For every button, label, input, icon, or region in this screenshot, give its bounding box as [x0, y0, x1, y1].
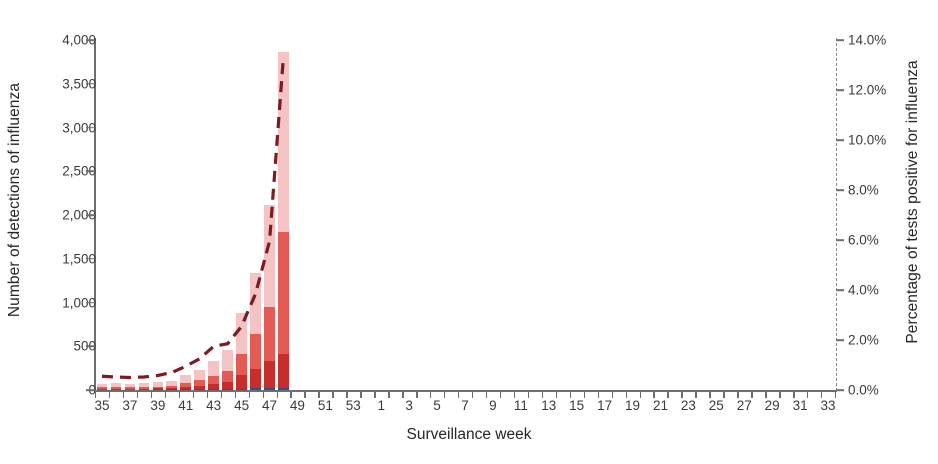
- x-axis-tick-mark: [165, 390, 166, 398]
- x-axis-tick-mark: [304, 390, 305, 398]
- y-axis-right-tick-mark: [836, 239, 844, 241]
- x-axis-tick-mark: [653, 390, 654, 398]
- x-axis-tick-mark: [151, 390, 152, 398]
- x-axis-tick-label: 27: [737, 398, 752, 413]
- influenza-surveillance-chart: Number of detections of influenza Percen…: [0, 0, 938, 464]
- y-axis-left-tick-mark: [86, 389, 95, 391]
- x-axis-tick-mark: [779, 390, 780, 398]
- x-axis-tick-mark: [277, 390, 278, 398]
- y-axis-right-tick-label: 6.0%: [848, 233, 879, 248]
- percentage-positive-path: [102, 56, 284, 377]
- y-axis-right-tick-mark: [836, 289, 844, 291]
- y-axis-left-title-text: Number of detections of influenza: [6, 83, 24, 317]
- x-axis-tick-label: 15: [569, 398, 584, 413]
- y-axis-left-tick-mark: [86, 214, 95, 216]
- x-axis-tick-mark: [793, 390, 794, 398]
- x-axis-tick-mark: [402, 390, 403, 398]
- x-axis-tick-mark: [388, 390, 389, 398]
- x-axis-title: Surveillance week: [0, 426, 938, 444]
- x-axis-tick-label: 19: [625, 398, 640, 413]
- x-axis-tick-mark: [807, 390, 808, 398]
- x-axis-tick-mark: [346, 390, 347, 398]
- y-axis-right-tick-mark: [836, 139, 844, 141]
- x-axis-tick-mark: [95, 390, 96, 398]
- y-axis-right-tick-mark: [836, 89, 844, 91]
- y-axis-left-tick-mark: [86, 83, 95, 85]
- x-axis-tick-mark: [123, 390, 124, 398]
- y-axis-right-tick-mark: [836, 339, 844, 341]
- y-axis-right-tick-mark: [836, 189, 844, 191]
- x-axis-tick-label: 39: [150, 398, 165, 413]
- x-axis-tick-mark: [318, 390, 319, 398]
- y-axis-right-tick-mark: [836, 389, 844, 391]
- x-axis-tick-label: 7: [461, 398, 469, 413]
- x-axis-tick-label: 41: [178, 398, 193, 413]
- x-axis-tick-label: 1: [377, 398, 385, 413]
- x-axis-tick-mark: [430, 390, 431, 398]
- x-axis-tick-mark: [486, 390, 487, 398]
- x-axis-tick-label: 9: [489, 398, 497, 413]
- y-axis-right-title: Percentage of tests positive for influen…: [898, 0, 928, 404]
- x-axis-tick-mark: [263, 390, 264, 398]
- x-axis-tick-mark: [416, 390, 417, 398]
- x-axis-tick-mark: [835, 390, 836, 398]
- x-axis-tick-label: 37: [122, 398, 137, 413]
- y-axis-right-tick-label: 2.0%: [848, 333, 879, 348]
- x-axis-tick-mark: [221, 390, 222, 398]
- x-axis-tick-label: 23: [681, 398, 696, 413]
- x-axis-tick-mark: [137, 390, 138, 398]
- x-axis-tick-label: 13: [541, 398, 556, 413]
- x-axis-tick-label: 51: [318, 398, 333, 413]
- x-axis-tick-mark: [249, 390, 250, 398]
- x-axis-tick-mark: [612, 390, 613, 398]
- x-axis-tick-mark: [695, 390, 696, 398]
- x-axis-tick-mark: [667, 390, 668, 398]
- y-axis-right-tick-label: 0.0%: [848, 383, 879, 398]
- x-axis-tick-label: 33: [821, 398, 836, 413]
- y-axis-right-tick-mark: [836, 39, 844, 41]
- x-axis-tick-mark: [109, 390, 110, 398]
- y-axis-left-tick-mark: [86, 258, 95, 260]
- x-axis-tick-mark: [598, 390, 599, 398]
- x-axis-tick-mark: [444, 390, 445, 398]
- x-axis-tick-label: 3: [405, 398, 413, 413]
- y-axis-left-tick-mark: [86, 39, 95, 41]
- x-axis-tick-mark: [542, 390, 543, 398]
- y-axis-left-tick-mark: [86, 345, 95, 347]
- y-axis-right-tick-label: 14.0%: [848, 33, 886, 48]
- x-axis-tick-mark: [737, 390, 738, 398]
- x-axis-tick-mark: [584, 390, 585, 398]
- x-axis-tick-mark: [207, 390, 208, 398]
- x-axis-tick-mark: [374, 390, 375, 398]
- y-axis-left-tick-mark: [86, 170, 95, 172]
- x-axis-tick-mark: [681, 390, 682, 398]
- x-axis-tick-mark: [528, 390, 529, 398]
- x-axis-line: [94, 390, 837, 392]
- percentage-positive-line: [95, 40, 835, 390]
- y-axis-left-tick-mark: [86, 302, 95, 304]
- x-axis-tick-label: 35: [94, 398, 109, 413]
- x-axis-tick-mark: [556, 390, 557, 398]
- x-axis-tick-mark: [626, 390, 627, 398]
- x-axis-tick-label: 11: [514, 398, 528, 413]
- x-axis-tick-mark: [290, 390, 291, 398]
- x-axis-tick-mark: [709, 390, 710, 398]
- x-axis-tick-mark: [179, 390, 180, 398]
- x-axis-tick-mark: [500, 390, 501, 398]
- x-axis-tick-mark: [472, 390, 473, 398]
- plot-area: [95, 40, 835, 390]
- x-axis-tick-label: 43: [206, 398, 221, 413]
- x-axis-tick-mark: [514, 390, 515, 398]
- x-axis-tick-mark: [458, 390, 459, 398]
- x-axis-tick-mark: [640, 390, 641, 398]
- y-axis-right-tick-label: 4.0%: [848, 283, 879, 298]
- x-axis-tick-mark: [723, 390, 724, 398]
- x-axis-tick-label: 49: [290, 398, 305, 413]
- x-axis-tick-mark: [570, 390, 571, 398]
- y-axis-right-line: [836, 38, 837, 391]
- x-axis-tick-label: 25: [709, 398, 724, 413]
- x-axis-tick-label: 53: [346, 398, 361, 413]
- x-axis-tick-label: 47: [262, 398, 277, 413]
- y-axis-left-tick-mark: [86, 127, 95, 129]
- x-axis-tick-mark: [193, 390, 194, 398]
- x-axis-tick-mark: [765, 390, 766, 398]
- x-axis-tick-label: 5: [433, 398, 441, 413]
- x-axis-tick-mark: [360, 390, 361, 398]
- y-axis-right-tick-label: 12.0%: [848, 83, 886, 98]
- y-axis-left-title: Number of detections of influenza: [2, 0, 28, 400]
- y-axis-right-tick-label: 8.0%: [848, 183, 879, 198]
- x-axis-tick-label: 17: [597, 398, 612, 413]
- x-axis-tick-mark: [751, 390, 752, 398]
- x-axis-tick-label: 31: [793, 398, 808, 413]
- x-axis-tick-label: 45: [234, 398, 249, 413]
- x-axis-tick-label: 21: [653, 398, 668, 413]
- y-axis-right-title-text: Percentage of tests positive for influen…: [904, 60, 922, 343]
- x-axis-tick-mark: [235, 390, 236, 398]
- x-axis-tick-mark: [821, 390, 822, 398]
- x-axis-tick-mark: [332, 390, 333, 398]
- y-axis-right-tick-label: 10.0%: [848, 133, 886, 148]
- x-axis-tick-label: 29: [765, 398, 780, 413]
